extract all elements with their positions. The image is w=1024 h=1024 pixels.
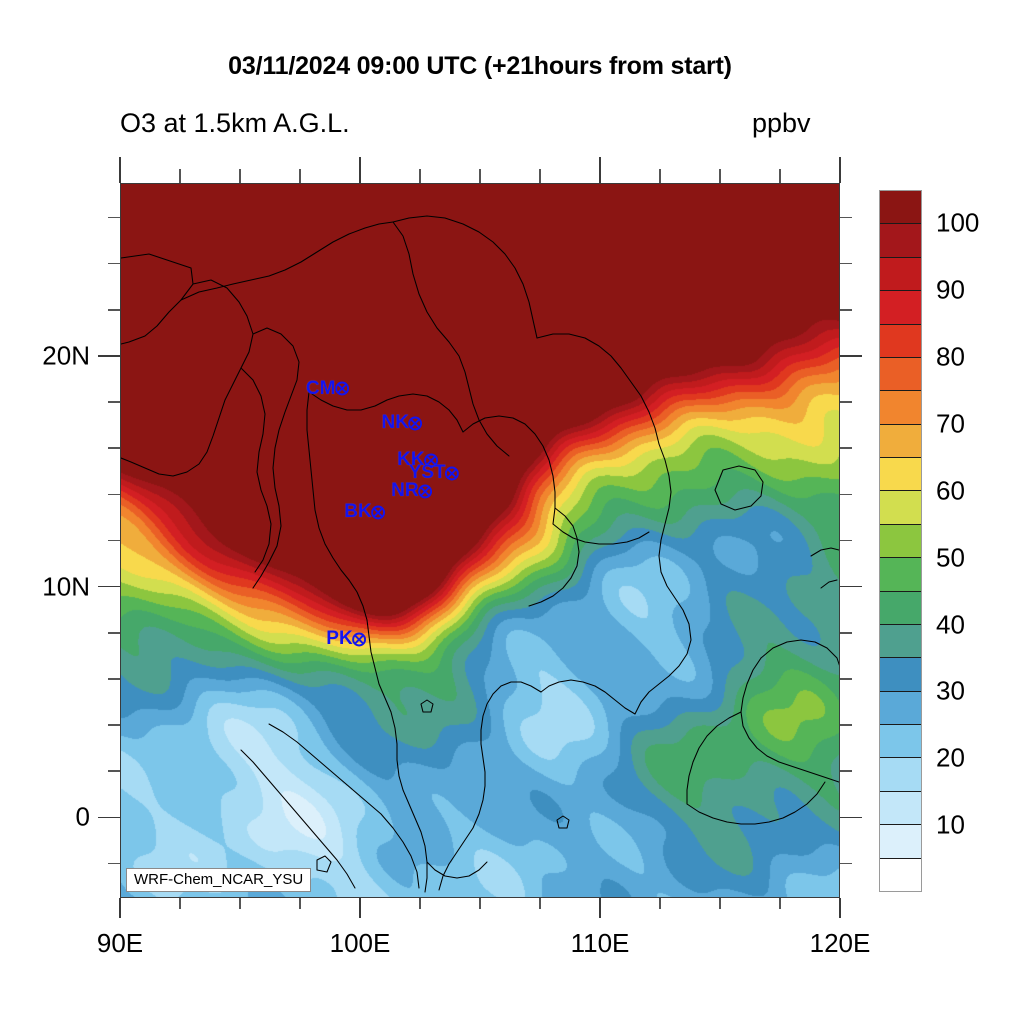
coast-borneo-w — [741, 658, 839, 782]
colorbar-band-30[interactable] — [880, 658, 921, 691]
coast-vietnam-e — [635, 444, 691, 714]
x-tick-117.5 — [779, 898, 781, 909]
x-tick-95 — [239, 898, 241, 909]
station-cross-circle-icon — [418, 484, 433, 499]
x-tick-top-115 — [719, 169, 721, 183]
x-tick-top-100 — [359, 157, 361, 183]
y-axis-label-1: 10N — [0, 571, 90, 602]
station-label: NK — [381, 412, 408, 434]
colorbar-tick-label-10: 10 — [936, 810, 965, 841]
coast-bangladesh — [121, 280, 253, 476]
colorbar-band-75[interactable] — [880, 358, 921, 391]
colorbar-band-80[interactable] — [880, 325, 921, 358]
colorbar-band-10[interactable] — [880, 792, 921, 825]
x-tick-90 — [119, 898, 121, 918]
colorbar-tick-label-80: 80 — [936, 342, 965, 373]
border-india-china — [181, 222, 393, 300]
border-china-vietnam — [537, 334, 659, 444]
y-tick-right-18 — [840, 401, 852, 403]
x-tick-top-90 — [119, 157, 121, 183]
y-tick-right-14 — [840, 494, 852, 496]
y-tick-8 — [108, 632, 120, 634]
page-title: 03/11/2024 09:00 UTC (+21hours from star… — [0, 52, 960, 81]
y-tick-0 — [98, 817, 120, 819]
x-tick-107.5 — [539, 898, 541, 909]
units-label: ppbv — [752, 108, 811, 139]
x-tick-top-112.5 — [659, 169, 661, 183]
colorbar-band-65[interactable] — [880, 425, 921, 458]
colorbar-tick-label-30: 30 — [936, 676, 965, 707]
x-tick-top-105 — [479, 169, 481, 183]
y-tick-16 — [108, 447, 120, 449]
y-tick-right-26 — [840, 217, 852, 219]
station-label: NR — [391, 480, 418, 502]
border-laos-cambodia — [553, 524, 649, 544]
x-tick-100 — [359, 898, 361, 918]
y-tick-12 — [108, 540, 120, 542]
y-tick-right-6 — [840, 678, 852, 680]
island-palawan — [811, 548, 839, 556]
colorbar-tick-label-90: 90 — [936, 275, 965, 306]
coast-borneo-n — [761, 640, 840, 670]
x-tick-top-92.5 — [179, 169, 181, 183]
y-tick-right-0 — [840, 817, 862, 819]
coast-myanmar-west — [241, 368, 271, 572]
island-hainan — [715, 466, 763, 510]
x-tick-112.5 — [659, 898, 661, 909]
colorbar-tick-label-40: 40 — [936, 609, 965, 640]
station-cross-circle-icon — [352, 632, 367, 647]
y-tick-24 — [108, 263, 120, 265]
station-label: PK — [326, 628, 352, 650]
x-tick-115 — [719, 898, 721, 909]
station-cross-circle-icon — [445, 466, 460, 481]
x-tick-top-97.5 — [299, 169, 301, 183]
colorbar-tick-label-60: 60 — [936, 475, 965, 506]
border-myanmar-thailand-w — [307, 392, 349, 580]
y-tick-14 — [108, 494, 120, 496]
border-thailand-cambodia — [529, 508, 579, 606]
y-tick-26 — [108, 217, 120, 219]
colorbar-tick-label-100: 100 — [936, 208, 979, 239]
station-marker-cm[interactable]: CM — [306, 378, 350, 400]
coast-malay-e — [439, 786, 485, 890]
y-tick-right-20 — [840, 355, 862, 357]
y-tick-2 — [108, 770, 120, 772]
colorbar-band-95[interactable] — [880, 224, 921, 257]
colorbar-band-50[interactable] — [880, 525, 921, 558]
x-tick-97.5 — [299, 898, 301, 909]
field-subtitle: O3 at 1.5km A.G.L. — [120, 108, 350, 139]
coast-borneo-sw — [687, 712, 741, 804]
model-watermark: WRF-Chem_NCAR_YSU — [126, 868, 311, 892]
colorbar-band-85[interactable] — [880, 291, 921, 324]
colorbar-band-35[interactable] — [880, 625, 921, 658]
x-tick-110 — [599, 898, 601, 918]
station-marker-nr[interactable]: NR — [391, 480, 432, 502]
coast-singapore — [427, 862, 487, 878]
station-cross-circle-icon — [371, 505, 386, 520]
colorbar-band-70[interactable] — [880, 391, 921, 424]
station-marker-bk[interactable]: BK — [344, 501, 385, 523]
colorbar-tick-label-20: 20 — [936, 743, 965, 774]
coastline-overlay — [121, 184, 840, 898]
map-plot-area[interactable]: CMNKKKYSTNRBKPK WRF-Chem_NCAR_YSU — [120, 183, 840, 898]
colorbar-band-40[interactable] — [880, 592, 921, 625]
y-tick-6 — [108, 678, 120, 680]
x-tick-102.5 — [419, 898, 421, 909]
colorbar[interactable] — [879, 190, 922, 892]
colorbar-band-0[interactable] — [880, 859, 921, 891]
island-palawan-s — [821, 580, 837, 588]
colorbar-band-100[interactable] — [880, 191, 921, 224]
y-tick-right-10 — [840, 586, 862, 588]
colorbar-band-60[interactable] — [880, 458, 921, 491]
y-tick-22 — [108, 309, 120, 311]
station-marker-pk[interactable]: PK — [326, 628, 366, 650]
y-tick-4 — [108, 724, 120, 726]
colorbar-band-55[interactable] — [880, 491, 921, 524]
coast-arakan — [253, 328, 299, 588]
x-tick-top-110 — [599, 157, 601, 183]
border-china-south — [393, 216, 537, 338]
island-small-1 — [421, 700, 433, 712]
station-cross-circle-icon — [334, 381, 349, 396]
x-tick-105 — [479, 898, 481, 909]
colorbar-band-5[interactable] — [880, 825, 921, 858]
ozone-forecast-figure: 03/11/2024 09:00 UTC (+21hours from star… — [0, 0, 1024, 1024]
y-tick-right-12 — [840, 540, 852, 542]
island-small-2 — [557, 816, 569, 828]
x-tick-top-117.5 — [779, 169, 781, 183]
y-tick-right-2 — [840, 770, 852, 772]
coast-borneo-s — [687, 782, 825, 824]
x-tick-top-102.5 — [419, 169, 421, 183]
station-marker-nk[interactable]: NK — [381, 412, 422, 434]
y-tick-10 — [98, 586, 120, 588]
y-axis-label-0: 0 — [0, 802, 90, 833]
y-axis-label-2: 20N — [0, 340, 90, 371]
x-tick-top-120 — [839, 157, 841, 183]
x-axis-label-1: 100E — [330, 928, 391, 959]
y-tick--2 — [108, 863, 120, 865]
x-tick-top-95 — [239, 169, 241, 183]
x-axis-label-3: 120E — [810, 928, 871, 959]
x-tick-top-107.5 — [539, 169, 541, 183]
y-tick-right--2 — [840, 863, 852, 865]
coast-malay-w — [349, 580, 427, 892]
colorbar-band-45[interactable] — [880, 558, 921, 591]
colorbar-band-15[interactable] — [880, 758, 921, 791]
y-tick-right-22 — [840, 309, 852, 311]
border-laos-n — [463, 416, 555, 524]
y-tick-right-24 — [840, 263, 852, 265]
station-label: BK — [344, 501, 371, 523]
coast-gulf-w — [481, 682, 541, 786]
y-tick-right-8 — [840, 632, 852, 634]
x-tick-120 — [839, 898, 841, 918]
colorbar-band-90[interactable] — [880, 258, 921, 291]
y-tick-right-16 — [840, 447, 852, 449]
colorbar-tick-label-50: 50 — [936, 542, 965, 573]
x-tick-92.5 — [179, 898, 181, 909]
x-axis-label-2: 110E — [571, 928, 630, 959]
y-tick-right-4 — [840, 724, 852, 726]
y-tick-18 — [108, 401, 120, 403]
island-small-3 — [317, 856, 331, 872]
y-tick-20 — [98, 355, 120, 357]
station-cross-circle-icon — [408, 416, 423, 431]
colorbar-band-20[interactable] — [880, 725, 921, 758]
station-label: CM — [306, 378, 336, 400]
colorbar-tick-label-70: 70 — [936, 409, 965, 440]
coast-mekong-delta — [541, 680, 635, 714]
colorbar-band-25[interactable] — [880, 692, 921, 725]
x-axis-label-0: 90E — [97, 928, 143, 959]
